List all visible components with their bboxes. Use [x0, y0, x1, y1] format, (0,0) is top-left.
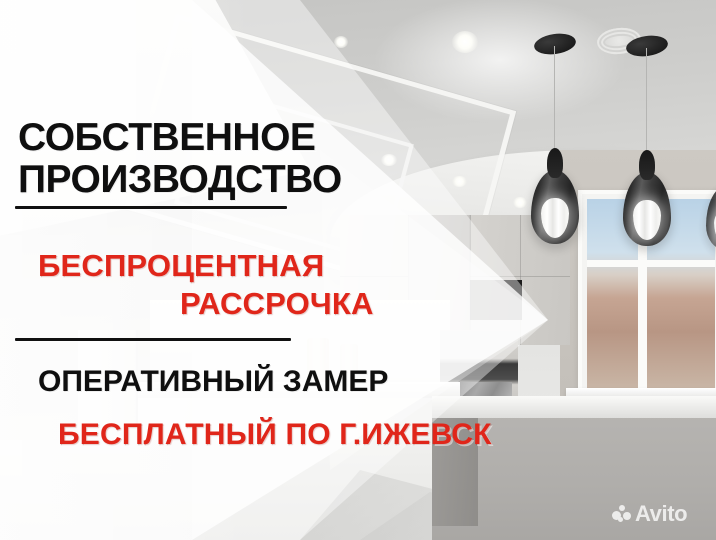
ad-copy: СОБСТВЕННОЕ ПРОИЗВОДСТВО БЕСПРОЦЕНТНАЯ Р…: [0, 0, 716, 540]
headline-line-4: РАССРОЧКА: [180, 288, 374, 319]
divider-rule-2: [15, 338, 291, 341]
headline-line-3: БЕСПРОЦЕНТНАЯ: [38, 250, 324, 281]
headline-line-6: БЕСПЛАТНЫЙ ПО Г.ИЖЕВСК: [58, 420, 492, 450]
headline-line-1: СОБСТВЕННОЕ: [18, 118, 315, 157]
headline-line-5: ОПЕРАТИВНЫЙ ЗАМЕР: [38, 367, 388, 397]
avito-wordmark: Avito: [635, 503, 687, 525]
divider-rule-1: [15, 206, 287, 209]
avito-watermark: Avito: [612, 503, 687, 525]
avito-dots-icon: [612, 505, 631, 524]
headline-line-2: ПРОИЗВОДСТВО: [18, 160, 342, 199]
avito-ad-image: СОБСТВЕННОЕ ПРОИЗВОДСТВО БЕСПРОЦЕНТНАЯ Р…: [0, 0, 716, 540]
